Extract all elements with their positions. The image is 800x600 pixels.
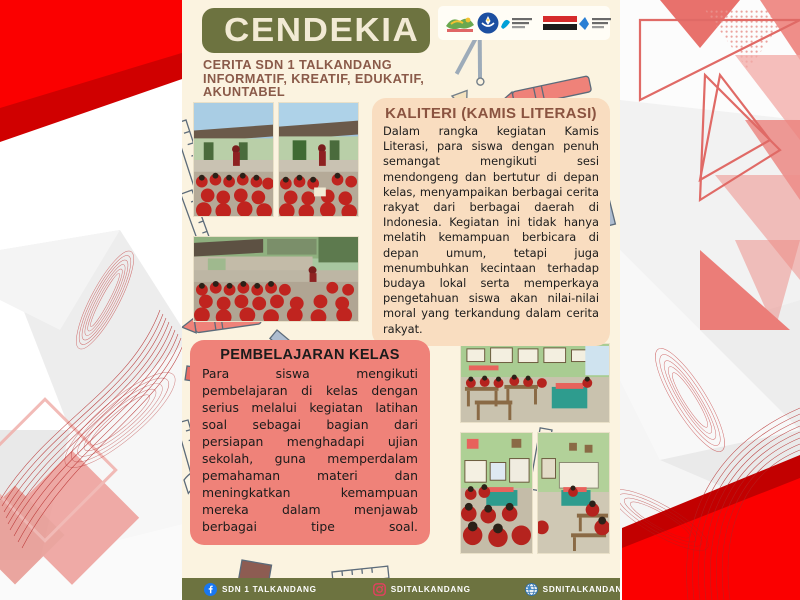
footer-facebook-label: SDN 1 TALKANDANG (222, 585, 317, 594)
title-text: CENDEKIA (224, 13, 419, 46)
merdeka-belajar-logo (543, 11, 577, 35)
merdeka-mengajar-logo (577, 11, 613, 35)
sekolah-penggerak-logo (443, 11, 477, 35)
photo-classroom-left (460, 432, 533, 554)
article-body-kaliteri: Dalam rangka kegiatan Kamis Literasi, pa… (383, 124, 599, 337)
poster-footer: SDN 1 TALKANDANG SDITALKANDANG SDNITALKA… (182, 578, 620, 600)
photo-storytelling-outdoor-left (193, 102, 274, 217)
kurikulum-merdeka-logo (499, 11, 543, 35)
logo-strip (438, 6, 610, 40)
poster-panel: CENDEKIA CERITA SDN 1 TALKANDANG INFORMA… (182, 0, 620, 600)
instagram-icon (373, 583, 386, 596)
footer-website-label: SDNITALKANDANG.SCH.ID (543, 585, 620, 594)
facebook-icon (204, 583, 217, 596)
photo-classroom-right (537, 432, 610, 554)
photo-classroom-wide (460, 343, 610, 423)
article-body-pembelajaran-kelas: Para siswa mengikuti pembelajaran di kel… (202, 365, 418, 535)
footer-website[interactable]: SDNITALKANDANG.SCH.ID (525, 583, 620, 596)
photo-storytelling-outdoor-wide (193, 236, 359, 322)
footer-instagram[interactable]: SDITALKANDANG (373, 583, 471, 596)
globe-icon (525, 583, 538, 596)
article-heading-kaliteri: KALITERI (KAMIS LITERASI) (383, 105, 599, 122)
photo-storytelling-outdoor-right (278, 102, 359, 217)
article-card-pembelajaran-kelas: PEMBELAJARAN KELAS Para siswa mengikuti … (190, 340, 430, 545)
footer-facebook[interactable]: SDN 1 TALKANDANG (204, 583, 317, 596)
tut-wuri-handayani-logo (477, 11, 499, 35)
page-title: CENDEKIA (202, 8, 430, 53)
poster-header: CENDEKIA CERITA SDN 1 TALKANDANG INFORMA… (182, 0, 620, 96)
article-card-kaliteri: KALITERI (KAMIS LITERASI) Dalam rangka k… (372, 98, 610, 346)
footer-instagram-label: SDITALKANDANG (391, 585, 471, 594)
article-heading-pembelajaran-kelas: PEMBELAJARAN KELAS (202, 347, 418, 363)
subtitle-text: CERITA SDN 1 TALKANDANG INFORMATIF, KREA… (203, 59, 473, 100)
